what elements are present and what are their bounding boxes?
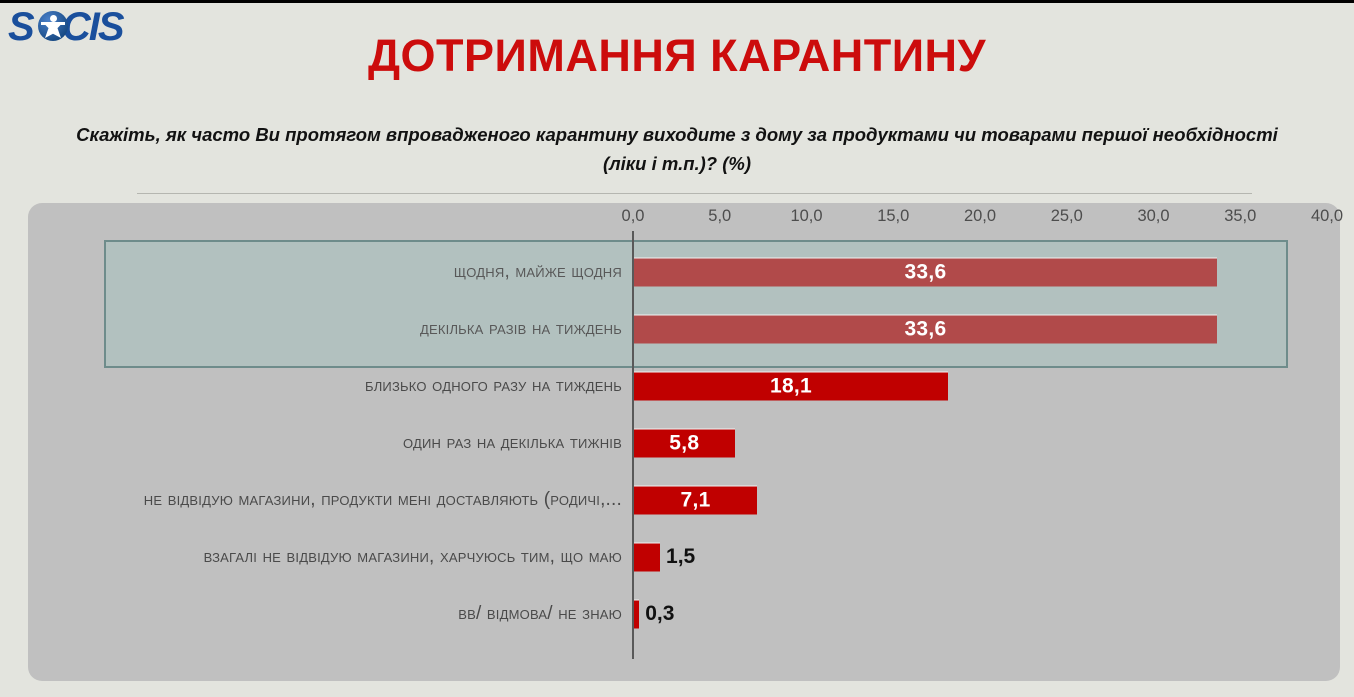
x-axis-tick-labels: 0,05,010,015,020,025,030,035,040,0 [28, 203, 1340, 231]
x-axis-tick-15: 15,0 [877, 207, 909, 226]
plot-area: Щодня, майже щодня33,6Декілька разів на … [28, 231, 1340, 681]
category-label: Не відвідую магазини, продукти мені дост… [144, 489, 622, 511]
bar-value-label: 33,6 [634, 260, 1217, 284]
chart-row[interactable]: ВВ/ відмова/ не знаю0,3 [28, 585, 1340, 642]
x-axis-tick-10: 10,0 [790, 207, 822, 226]
bar[interactable] [634, 599, 639, 628]
bar[interactable]: 18,1 [634, 371, 948, 400]
x-axis-tick-20: 20,0 [964, 207, 996, 226]
bar-value-label: 5,8 [634, 431, 735, 455]
category-label: ВВ/ відмова/ не знаю [458, 603, 622, 625]
category-label: Взагалі не відвідую магазини, харчуюсь т… [204, 546, 622, 568]
bar-value-label: 7,1 [634, 488, 757, 512]
x-axis-tick-30: 30,0 [1137, 207, 1169, 226]
category-label: Щодня, майже щодня [454, 261, 622, 283]
header-divider [137, 193, 1252, 194]
bar-value-label: 1,5 [666, 545, 695, 569]
bar[interactable] [634, 542, 660, 571]
chart-row[interactable]: Близько одного разу на тиждень18,1 [28, 357, 1340, 414]
x-axis-tick-25: 25,0 [1051, 207, 1083, 226]
bar-value-label: 33,6 [634, 317, 1217, 341]
x-axis-tick-40: 40,0 [1311, 207, 1343, 226]
top-edge-bar [0, 0, 1354, 3]
category-label: Близько одного разу на тиждень [365, 375, 622, 397]
chart-row[interactable]: Взагалі не відвідую магазини, харчуюсь т… [28, 528, 1340, 585]
chart-panel: 0,05,010,015,020,025,030,035,040,0 Щодня… [28, 203, 1340, 681]
chart-row[interactable]: Щодня, майже щодня33,6 [28, 243, 1340, 300]
bar[interactable]: 33,6 [634, 314, 1217, 343]
chart-row[interactable]: Декілька разів на тиждень33,6 [28, 300, 1340, 357]
bar[interactable]: 5,8 [634, 428, 735, 457]
category-label: Декілька разів на тиждень [420, 318, 622, 340]
x-axis-tick-35: 35,0 [1224, 207, 1256, 226]
bar[interactable]: 33,6 [634, 257, 1217, 286]
bar-value-label: 0,3 [645, 602, 674, 626]
page-title: ДОТРИМАННЯ КАРАНТИНУ [0, 30, 1354, 82]
chart-row[interactable]: Не відвідую магазини, продукти мені дост… [28, 471, 1340, 528]
category-label: Один раз на декілька тижнів [403, 432, 622, 454]
bar-value-label: 18,1 [634, 374, 948, 398]
chart-row[interactable]: Один раз на декілька тижнів5,8 [28, 414, 1340, 471]
x-axis-tick-5: 5,0 [708, 207, 731, 226]
question-subtitle: Скажіть, як часто Ви протягом впроваджен… [56, 120, 1298, 178]
x-axis-tick-0: 0,0 [622, 207, 645, 226]
bar[interactable]: 7,1 [634, 485, 757, 514]
logo-head [50, 15, 57, 22]
